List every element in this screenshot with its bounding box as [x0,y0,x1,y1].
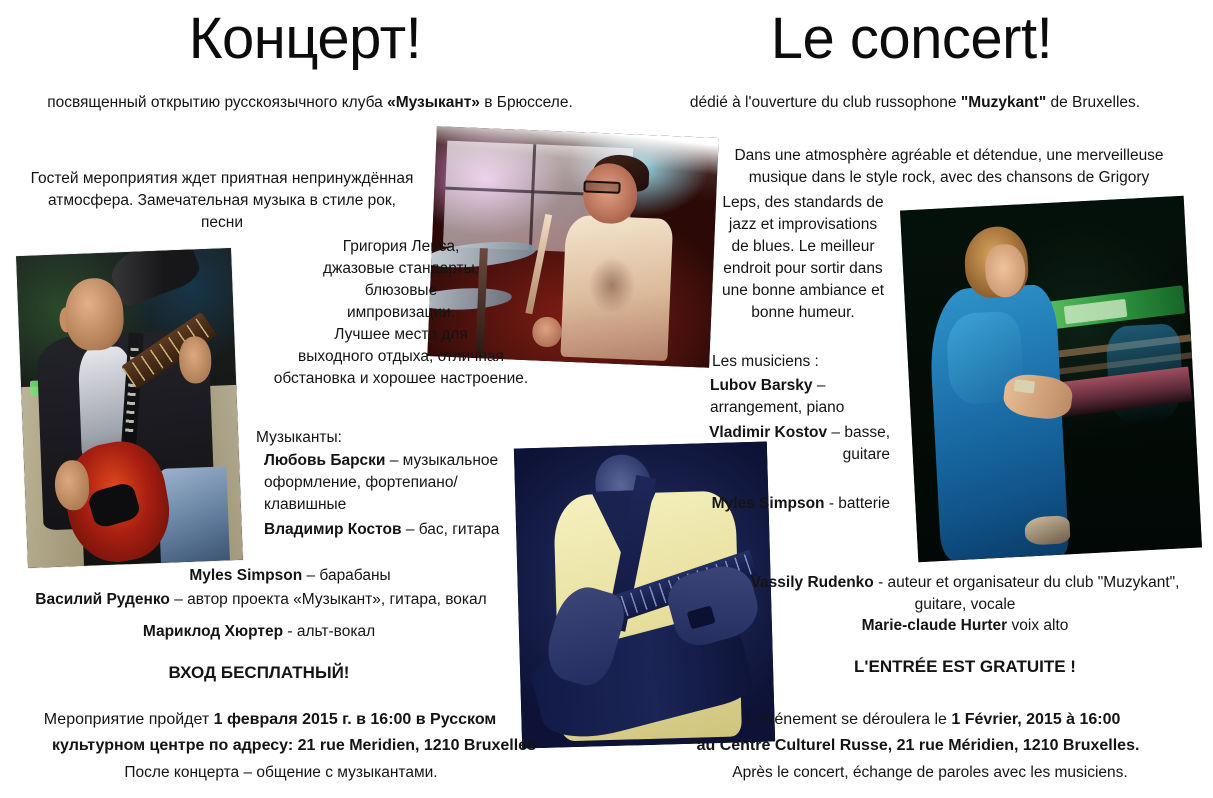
russian-subtitle-part1: посвященный открытию русскоязычного клуб… [47,94,387,111]
french-event-details: L'événement se déroulera le 1 Février, 2… [660,709,1206,732]
russian-musician-4: Василий Руденко – автор проекта «Музыкан… [4,589,518,611]
russian-musician-4-role: – автор проекта «Музыкант», гитара, вока… [170,591,487,608]
russian-musician-3-name: Myles Simpson [189,567,302,584]
pianist-photo [900,196,1202,562]
french-title: Le concert! [610,10,1213,68]
french-musician-5-name: Marie-claude Hurter [862,617,1008,634]
russian-musician-2-role: – бас, гитара [406,521,500,538]
french-musician-1: Lubov Barsky – arrangement, piano [710,375,890,419]
russian-intro-line-1: Гостей мероприятия ждет приятная неприну… [8,168,436,190]
french-intro-col-line-2: jazz et improvisations [694,214,912,236]
bassist-photo [514,442,775,749]
russian-intro-col-line-6: выходного отдыха, отличная [236,346,566,368]
french-club-name: "Muzykant" [961,94,1046,111]
russian-musician-5: Мариклод Хюртер - альт-вокал [24,621,494,643]
russian-musician-3-role: – барабаны [302,567,390,584]
french-subtitle-part2: de Bruxelles. [1046,94,1140,111]
russian-intro-line-2: атмосфера. Замечательная музыка в стиле … [8,190,436,212]
french-musician-1-name: Lubov Barsky [710,377,813,394]
french-musician-4-role: - auteur et organisateur du club "Muzyka… [874,574,1180,613]
french-musician-4: Vassily Rudenko - auteur et organisateur… [742,572,1188,616]
russian-musician-5-role: - альт-вокал [283,623,375,640]
french-musicians-heading: Les musiciens : [712,351,932,373]
russian-intro-line-3: песни [8,212,436,234]
french-after-concert: Après le concert, échange de paroles ave… [660,762,1200,784]
russian-musician-1: Любовь Барски – музыкальное оформление, … [264,450,510,516]
concert-poster: Концерт! Le concert! [0,0,1213,798]
russian-musician-1-name: Любовь Барски [264,452,385,469]
guitarist-photo [16,248,243,568]
russian-title: Концерт! [0,10,610,68]
french-details-prefix: L'événement se déroulera le [746,711,952,728]
french-intro-col-line-6: bonne humeur. [694,302,912,324]
russian-intro-col-line-2: джазовые стандарты, [236,258,566,280]
french-musician-5: Marie-claude Hurter voix alto [742,615,1188,637]
french-event-address: au Centre Culturel Russe, 21 rue Méridie… [638,735,1198,758]
russian-intro-block-b: Григория Лепса, джазовые стандарты, блюз… [236,236,566,390]
french-intro-col-line-1: Leps, des standards de [694,192,912,214]
french-intro-col-line-5: une bonne ambiance et [694,280,912,302]
russian-intro-col-line-3: блюзовые [236,280,566,302]
french-intro-block-a: Dans une atmosphère agréable et détendue… [700,145,1198,189]
russian-intro-col-line-1: Григория Лепса, [236,236,566,258]
french-subtitle-part1: dédié à l'ouverture du club russophone [690,94,961,111]
russian-intro-col-line-7: обстановка и хорошее настроение. [236,368,566,390]
russian-intro-block-a: Гостей мероприятия ждет приятная неприну… [8,168,436,234]
french-intro-block-b: Leps, des standards de jazz et improvisa… [694,192,912,324]
french-musician-2-role: – basse, guitare [827,424,890,463]
french-musician-2-name: Vladimir Kostov [709,424,827,441]
french-details-bold-1: 1 Février, 2015 à 16:00 [951,711,1120,728]
russian-subtitle: посвященный открытию русскоязычного клуб… [30,92,590,114]
russian-musician-5-name: Мариклод Хюртер [143,623,283,640]
russian-after-concert: После концерта – общение с музыкантами. [16,762,546,784]
russian-intro-col-line-5: Лучшее место для [236,324,566,346]
french-musician-5-role: voix alto [1007,617,1068,634]
french-musician-4-name: Vassily Rudenko [751,574,874,591]
french-musician-3-role: - batterie [825,495,890,512]
french-subtitle: dédié à l'ouverture du club russophone "… [630,92,1200,114]
french-intro-line-2: musique dans le style rock, avec des cha… [700,167,1198,189]
french-musician-2: Vladimir Kostov – basse, guitare [700,422,890,466]
french-musician-3-name: Myles Simpson [712,495,825,512]
russian-event-address: культурном центре по адресу: 21 rue Meri… [0,735,588,758]
russian-musician-4-name: Василий Руденко [35,591,170,608]
russian-club-name: «Музыкант» [387,94,480,111]
french-musician-3: Myles Simpson - batterie [700,493,890,515]
russian-musician-3: Myles Simpson – барабаны [60,565,520,587]
russian-event-details: Мероприятие пройдет 1 февраля 2015 г. в … [0,709,540,732]
french-intro-line-1: Dans une atmosphère agréable et détendue… [700,145,1198,167]
russian-musicians-heading: Музыканты: [256,427,516,449]
french-intro-col-line-4: endroit pour sortir dans [694,258,912,280]
russian-details-bold-1: 1 февраля 2015 г. в 16:00 в Русском [214,711,497,728]
russian-intro-col-line-4: импровизации. [236,302,566,324]
french-free-entry: L'ENTRÉE EST GRATUITE ! [742,655,1188,679]
russian-musician-2-name: Владимир Костов [264,521,406,538]
russian-subtitle-part2: в Брюсселе. [480,94,573,111]
russian-free-entry: ВХОД БЕСПЛАТНЫЙ! [24,661,494,685]
french-intro-col-line-3: de blues. Le meilleur [694,236,912,258]
russian-musician-2: Владимир Костов – бас, гитара [264,519,514,541]
russian-details-prefix: Мероприятие пройдет [44,711,214,728]
